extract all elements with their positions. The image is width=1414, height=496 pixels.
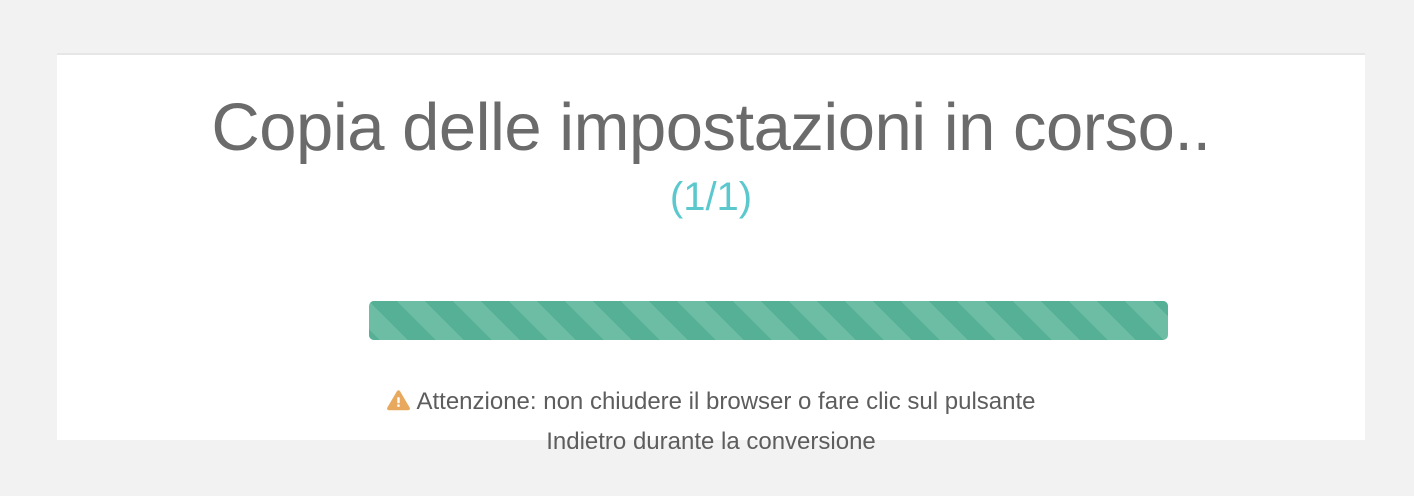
page-title: Copia delle impostazioni in corso.. bbox=[57, 55, 1365, 163]
warning-text-line-1: Attenzione: non chiudere il browser o fa… bbox=[416, 388, 1035, 415]
progress-card: Copia delle impostazioni in corso.. (1/1… bbox=[57, 53, 1365, 440]
progress-counter: (1/1) bbox=[57, 163, 1365, 217]
warning-triangle-icon bbox=[386, 386, 411, 423]
warning-text-line-2: Indietro durante la conversione bbox=[57, 423, 1365, 460]
page-root: Copia delle impostazioni in corso.. (1/1… bbox=[0, 0, 1414, 496]
progress-bar-fill bbox=[369, 301, 1168, 340]
warning-message: Attenzione: non chiudere il browser o fa… bbox=[57, 383, 1365, 460]
progress-bar bbox=[369, 301, 1168, 340]
warning-line-1: Attenzione: non chiudere il browser o fa… bbox=[57, 383, 1365, 423]
